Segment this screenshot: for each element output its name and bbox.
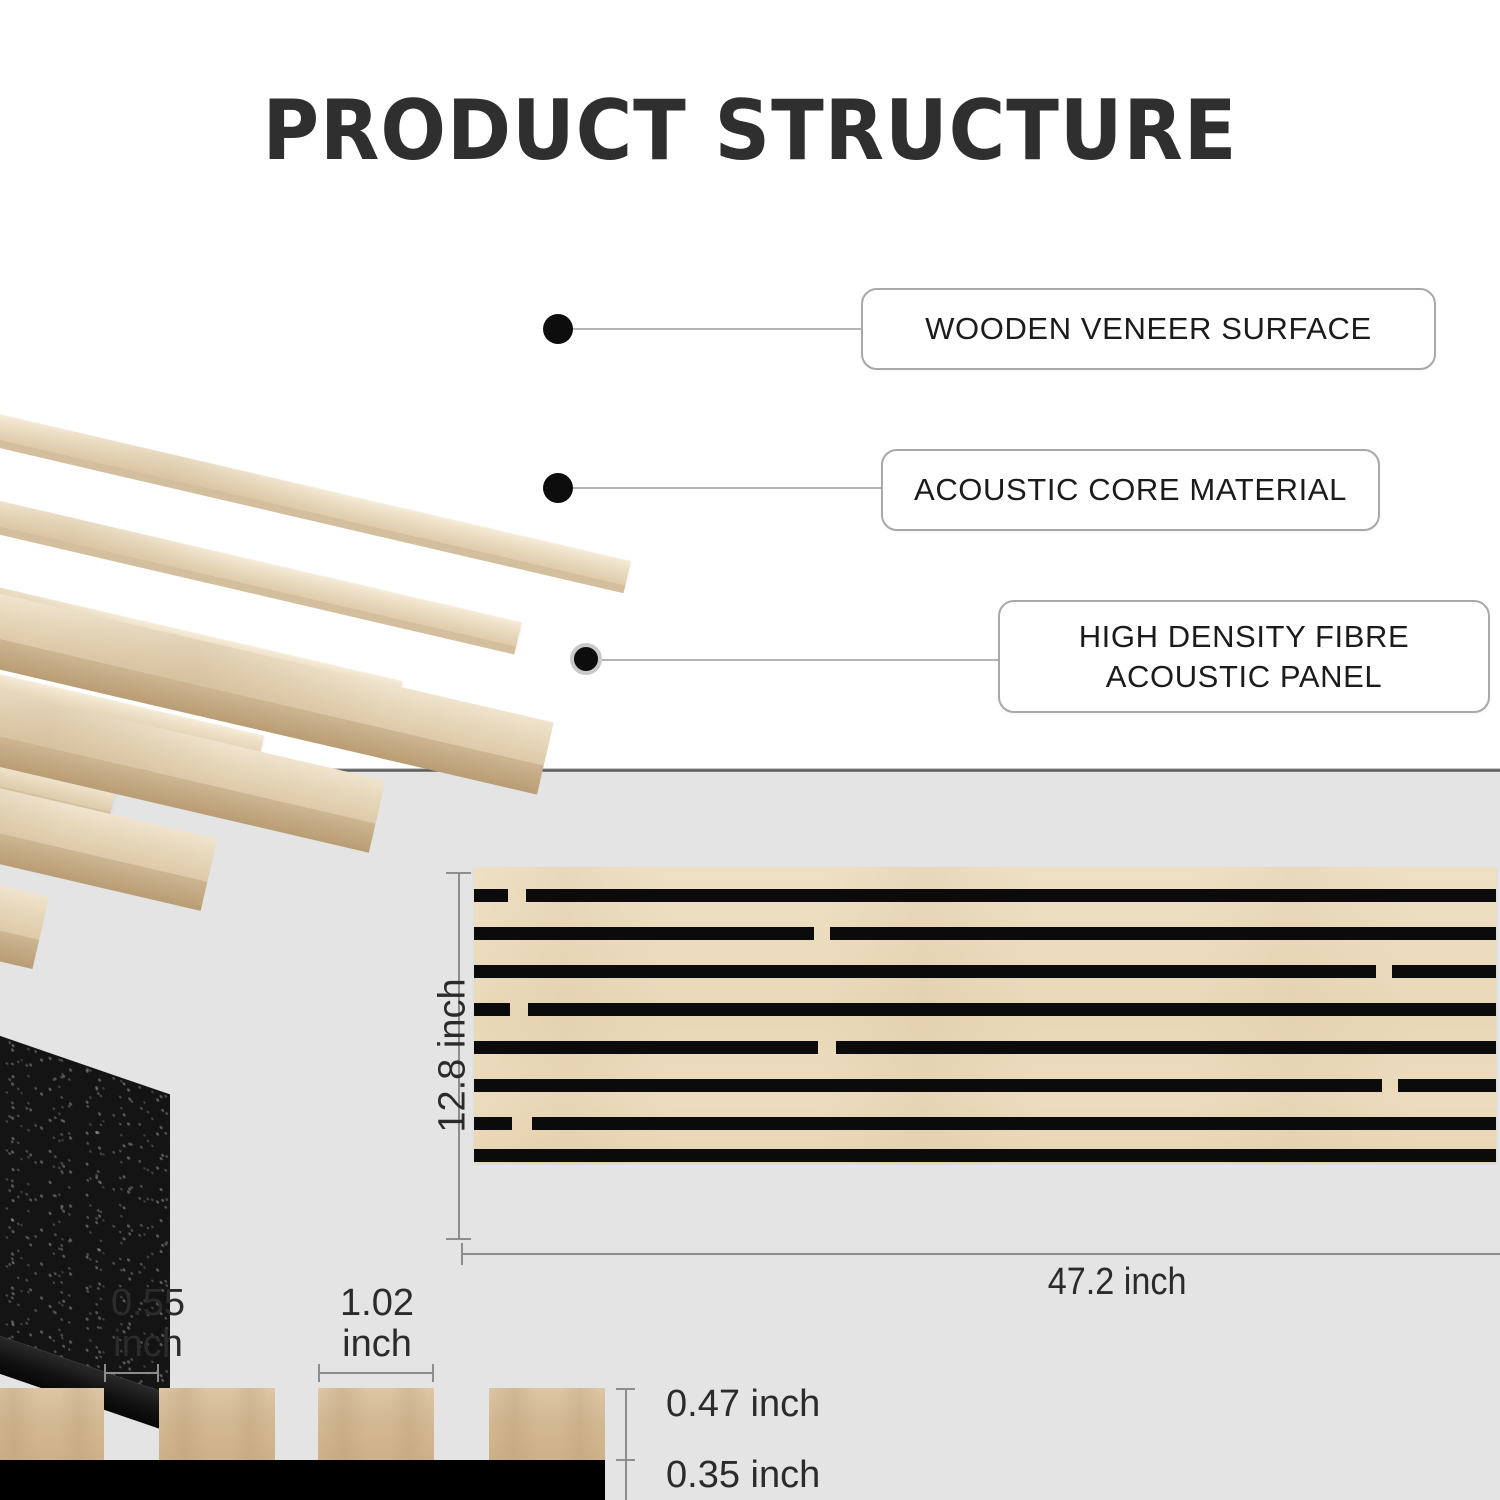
infographic-canvas: PRODUCT STRUCTURE xyxy=(0,0,1500,1500)
dimension-cap-slat-left xyxy=(318,1364,320,1382)
cross-section-base xyxy=(0,1460,605,1500)
leader-line-veneer xyxy=(573,328,861,330)
cross-section-slat xyxy=(0,1388,104,1460)
callout-panel-label: HIGH DENSITY FIBRE ACOUSTIC PANEL xyxy=(1000,617,1488,696)
dimension-cap-top xyxy=(446,872,471,874)
dimension-line-base-thickness xyxy=(625,1460,627,1500)
callout-dot-core xyxy=(543,473,573,503)
dimension-cap-slat-right xyxy=(432,1364,434,1382)
panel-groove xyxy=(836,1041,1496,1054)
cross-section-slat xyxy=(318,1388,434,1460)
panel-groove xyxy=(474,1117,512,1130)
panel-groove xyxy=(532,1117,1496,1130)
dimension-label-panel-height: 12.8 inch xyxy=(432,956,473,1156)
panel-groove xyxy=(528,1003,1496,1016)
dimension-cap-base-thick-top xyxy=(616,1459,635,1461)
leader-line-core xyxy=(573,487,881,489)
panel-groove xyxy=(830,927,1496,940)
callout-dot-panel xyxy=(570,643,602,675)
dimension-cap-gap-right xyxy=(157,1364,159,1382)
panel-groove xyxy=(474,1149,1496,1162)
dimension-label-gap: 0.55 inch xyxy=(88,1283,208,1365)
callout-veneer-label: WOODEN VENEER SURFACE xyxy=(925,309,1372,349)
cross-section-slat xyxy=(489,1388,605,1460)
dimension-line-gap xyxy=(104,1372,159,1374)
dimension-cap-slat-thick-top xyxy=(616,1388,635,1390)
dimension-label-panel-width: 47.2 inch xyxy=(1048,1262,1187,1303)
panel-groove xyxy=(1398,1079,1496,1092)
panel-groove xyxy=(474,1079,1382,1092)
panel-groove xyxy=(474,1041,818,1054)
dimension-cap-left xyxy=(461,1243,463,1265)
panel-groove xyxy=(474,965,1376,978)
callout-core-label: ACOUSTIC CORE MATERIAL xyxy=(914,470,1347,510)
dimension-label-base-thickness: 0.35 inch xyxy=(666,1455,820,1496)
callout-dot-veneer xyxy=(543,314,573,344)
panel-groove xyxy=(474,1003,510,1016)
dimension-line-panel-width xyxy=(461,1253,1500,1255)
dimension-line-slat-width xyxy=(318,1372,434,1374)
panel-groove xyxy=(1392,965,1496,978)
dimension-cap-gap-left xyxy=(104,1364,106,1382)
leader-line-panel xyxy=(602,659,998,661)
exploded-product-illustration xyxy=(0,150,650,910)
dimension-cap-bottom xyxy=(446,1238,471,1240)
panel-front-view xyxy=(474,867,1496,1163)
callout-fibre-panel[interactable]: HIGH DENSITY FIBRE ACOUSTIC PANEL xyxy=(998,600,1490,713)
dimension-label-slat-thickness: 0.47 inch xyxy=(666,1384,820,1425)
cross-section-slat xyxy=(159,1388,275,1460)
callout-acoustic-core[interactable]: ACOUSTIC CORE MATERIAL xyxy=(881,449,1380,531)
callout-veneer-surface[interactable]: WOODEN VENEER SURFACE xyxy=(861,288,1436,370)
dimension-label-slat-width: 1.02 inch xyxy=(317,1283,437,1365)
panel-groove xyxy=(474,927,814,940)
dimension-line-slat-thickness xyxy=(625,1388,627,1460)
panel-groove xyxy=(474,889,508,902)
panel-groove xyxy=(526,889,1496,902)
